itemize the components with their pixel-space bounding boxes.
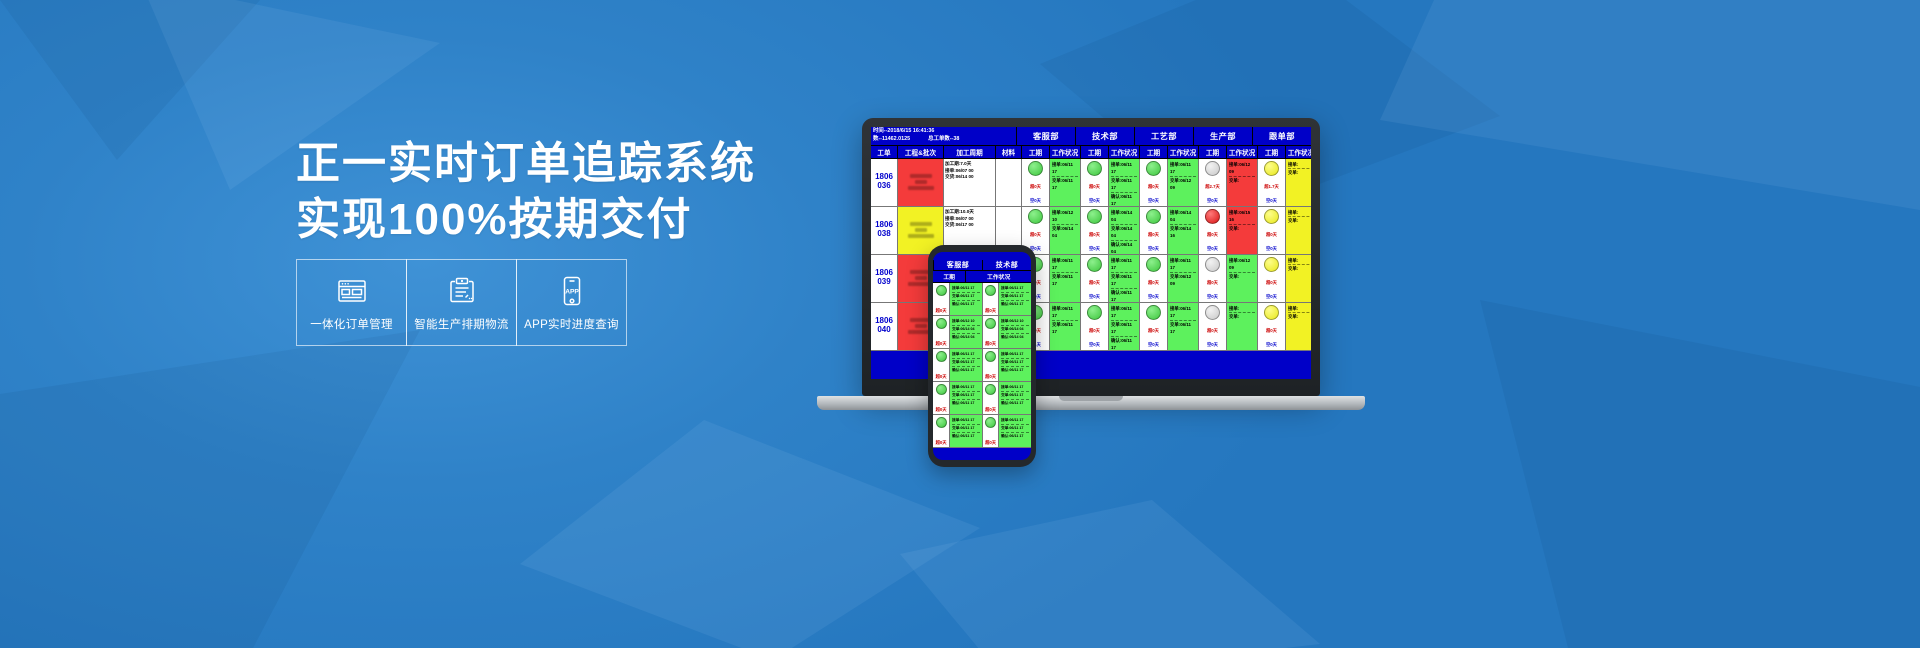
overdue-tag: 超0天 [936, 341, 947, 346]
mobile-dept-work-status-cell[interactable]: 接单:06/11 17交单:06/11 17确认:06/11 17 [949, 283, 982, 315]
work-status-line: 交单: [1288, 313, 1311, 320]
dept-duration-cell[interactable]: 超0天空0天 [1198, 255, 1226, 302]
status-indicator-green [985, 318, 996, 329]
mobile-dept-duration-cell[interactable]: 超0天 [982, 349, 998, 381]
overdue-tag: 超0天 [1266, 328, 1277, 333]
status-indicator-green [936, 417, 947, 428]
dept-duration-cell[interactable]: 超0天空0天 [1198, 303, 1226, 350]
work-status-line: 接单: [1288, 305, 1311, 313]
dept-duration-cell[interactable]: 超0天空0天 [1021, 159, 1049, 206]
cycle-due: 交货:06/14 00 [945, 174, 994, 181]
work-status-line: 接单:06/12 10 [1001, 318, 1029, 326]
work-status-line: 接单: [1288, 161, 1311, 169]
column-header-status: 工作状况 [1167, 146, 1198, 158]
work-status-line: 交单:06/11 17 [1111, 321, 1137, 337]
mobile-dept-work-status-cell[interactable]: 接单:06/11 17交单:06/11 17确认:06/11 17 [998, 415, 1031, 447]
bg-polygon [0, 330, 420, 648]
redacted-text [908, 186, 934, 190]
work-status-line: 接单:06/12 10 [952, 318, 980, 326]
mobile-column-headers: 工期工作状况工期工作状况 [933, 270, 1031, 283]
work-status-line: 接单:06/11 17 [1170, 257, 1196, 273]
work-status-line: 交单:06/11 17 [952, 392, 980, 400]
dept-work-status-cell[interactable]: 接单:交单: [1285, 159, 1311, 206]
status-indicator-green [936, 318, 947, 329]
work-status-line: 接单:06/14 04 [1170, 209, 1196, 225]
work-status-line: 接单:06/12 09 [1229, 161, 1255, 177]
redacted-text [915, 276, 927, 280]
work-status-line: 接单:06/11 17 [952, 351, 980, 359]
work-status-line: 交单:06/14 16 [1170, 225, 1196, 240]
redacted-text [915, 228, 927, 232]
status-indicator-green [1028, 209, 1043, 224]
work-status-line: 交单: [1288, 169, 1311, 176]
work-status-line: 交单:06/11 17 [1052, 177, 1078, 192]
cycle-duration: 加工期:7.0天 [945, 161, 994, 168]
mobile-dept-duration-cell[interactable]: 超0天 [933, 283, 949, 315]
headline-block: 正一实时订单追踪系统 实现100%按期交付 [296, 136, 936, 249]
status-indicator-green [1087, 161, 1102, 176]
work-status-line: 交单: [1229, 313, 1255, 320]
dept-work-status-cell[interactable]: 接单:06/11 17交单:06/11 17 [1167, 303, 1198, 350]
mobile-dept-duration-cell[interactable]: 超0天 [933, 349, 949, 381]
work-status-line: 接单:06/11 17 [1001, 285, 1029, 293]
mobile-app-icon: APP [555, 274, 589, 308]
dept-duration-cell[interactable]: 超1.7天空0天 [1257, 159, 1285, 206]
idle-tag: 空0天 [1266, 342, 1277, 347]
status-indicator-green [1028, 161, 1043, 176]
column-header-duration: 工期 [1021, 146, 1049, 158]
work-status-line: 交单:06/11 17 [952, 293, 980, 301]
mobile-table-row[interactable]: 超0天接单:06/11 17交单:06/11 17确认:06/11 17超0天接… [933, 283, 1031, 316]
dept-duration-cell[interactable]: 超0天空0天 [1139, 303, 1167, 350]
status-indicator-yellow [1264, 209, 1279, 224]
dept-duration-cell[interactable]: 超0天空0天 [1198, 207, 1226, 254]
dashboard-header: 时间--2018/6/15 16:41:36数--11462.0125总工单数-… [871, 127, 1311, 145]
work-status-line: 接单:06/15 16 [1229, 209, 1255, 225]
phone-device: 客服部技术部工期工作状况工期工作状况超0天接单:06/11 17交单:06/11… [928, 245, 1036, 467]
work-status-line: 交单:06/11 17 [1001, 293, 1029, 301]
status-indicator-green [936, 351, 947, 362]
work-status-line: 确认:06/11 17 [1111, 193, 1137, 206]
table-row[interactable]: 1806036加工期:7.0天接单:06/07 00交货:06/14 00超0天… [871, 159, 1311, 207]
work-status-line: 接单: [1288, 209, 1311, 217]
status-indicator-grey [1205, 305, 1220, 320]
feature-box-smart-scheduling[interactable]: 智能生产排期物流 [406, 259, 517, 346]
work-status-line: 确认:06/11 17 [952, 400, 980, 407]
dashboard-total-orders: 总工单数--38 [928, 136, 959, 144]
mobile-table-row[interactable]: 超0天接单:06/11 17交单:06/11 17确认:06/11 17超0天接… [933, 415, 1031, 448]
work-status-line: 接单:06/14 04 [1111, 209, 1137, 225]
phone-notch [965, 245, 999, 252]
headline-line-1: 正一实时订单追踪系统 [296, 136, 936, 192]
work-status-line: 交单:06/11 17 [952, 359, 980, 367]
overdue-tag: 超0天 [1266, 280, 1277, 285]
dashboard-time: 时间--2018/6/15 16:41:36 [873, 128, 1014, 136]
column-header: 工单 [871, 146, 897, 158]
status-indicator-yellow [1264, 257, 1279, 272]
mobile-dept-duration-cell[interactable]: 超0天 [933, 316, 949, 348]
feature-box-list: 一体化订单管理 智能生产排期物流 [296, 259, 627, 346]
status-indicator-green [1146, 161, 1161, 176]
work-status-line: 交单:06/11 17 [1170, 321, 1196, 336]
overdue-tag: 超0天 [1148, 328, 1159, 333]
status-indicator-green [936, 285, 947, 296]
mobile-table-row[interactable]: 超0天接单:06/12 10交单:06/14 04确认:06/14 04超0天接… [933, 316, 1031, 349]
idle-tag: 空0天 [1266, 198, 1277, 203]
work-status-line: 接单:06/11 17 [1170, 305, 1196, 321]
status-indicator-yellow [1264, 305, 1279, 320]
work-status-line: 交单:06/14 04 [952, 326, 980, 334]
order-number-cell: 1806038 [871, 207, 897, 254]
work-status-line: 交单:06/12 09 [1170, 273, 1196, 288]
work-status-line: 交单: [1229, 177, 1255, 184]
status-indicator-yellow [1264, 161, 1279, 176]
dept-work-status-cell[interactable]: 接单:06/11 17交单:06/11 17 [1049, 255, 1080, 302]
work-status-line: 确认:06/14 04 [1001, 334, 1029, 341]
overdue-tag: 超2.7天 [1205, 184, 1220, 189]
dept-duration-cell[interactable]: 超0天空0天 [1080, 303, 1108, 350]
dept-header-2: 技术部 [1075, 127, 1134, 145]
column-header: 材料 [995, 146, 1021, 158]
order-number-cell: 1806036 [871, 159, 897, 206]
work-status-line: 接单:06/11 17 [1170, 161, 1196, 177]
work-status-line: 接单:06/12 09 [1229, 257, 1255, 273]
status-indicator-green [1146, 305, 1161, 320]
dept-work-status-cell[interactable]: 接单:交单: [1285, 255, 1311, 302]
column-header: 加工周期 [943, 146, 995, 158]
dashboard-number: 数--11462.0125 [873, 136, 910, 144]
feature-label: APP实时进度查询 [524, 316, 619, 332]
status-indicator-red [1205, 209, 1220, 224]
work-status-line: 接单:06/11 17 [952, 417, 980, 425]
column-header-duration: 工期 [1080, 146, 1108, 158]
work-status-line: 接单: [1229, 305, 1255, 313]
redacted-text [915, 324, 927, 328]
idle-tag: 空0天 [1266, 294, 1277, 299]
dept-work-status-cell[interactable]: 接单:06/11 17交单:06/11 17确认:06/11 17 [1108, 159, 1139, 206]
dept-work-status-cell[interactable]: 接单:06/12 10交单:06/14 04 [1049, 207, 1080, 254]
idle-tag: 空0天 [1148, 198, 1159, 203]
idle-tag: 空0天 [1148, 342, 1159, 347]
mobile-dashboard-header: 客服部技术部 [933, 252, 1031, 270]
redacted-text [910, 174, 932, 178]
work-status-line: 接单:06/11 17 [1052, 305, 1078, 321]
status-indicator-green [1146, 209, 1161, 224]
dashboard-meta: 时间--2018/6/15 16:41:36数--11462.0125总工单数-… [871, 127, 1016, 145]
mobile-dept-work-status-cell[interactable]: 接单:06/11 17交单:06/11 17确认:06/11 17 [949, 349, 982, 381]
mobile-table-row[interactable]: 超0天接单:06/11 17交单:06/11 17确认:06/11 17超0天接… [933, 382, 1031, 415]
work-status-line: 接单:06/12 10 [1052, 209, 1078, 225]
work-status-line: 交单:06/11 17 [1001, 392, 1029, 400]
work-status-line: 交单: [1229, 273, 1255, 280]
overdue-tag: 超0天 [936, 407, 947, 412]
dept-duration-cell[interactable]: 超0天空0天 [1080, 207, 1108, 254]
feature-box-app-query[interactable]: APP APP实时进度查询 [516, 259, 627, 346]
overdue-tag: 超0天 [936, 374, 947, 379]
work-status-line: 接单:06/11 17 [1111, 305, 1137, 321]
column-header-status: 工作状况 [1108, 146, 1139, 158]
status-indicator-green [985, 285, 996, 296]
work-status-line: 接单:06/11 17 [1111, 257, 1137, 273]
idle-tag: 空0天 [1089, 294, 1100, 299]
overdue-tag: 超0天 [1030, 232, 1041, 237]
mobile-dept-duration-cell[interactable]: 超0天 [933, 382, 949, 414]
dept-duration-cell[interactable]: 超2.7天空0天 [1198, 159, 1226, 206]
idle-tag: 空0天 [1207, 198, 1218, 203]
work-status-line: 交单: [1229, 225, 1255, 232]
overdue-tag: 超0天 [985, 407, 996, 412]
dept-duration-cell[interactable]: 超0天空0天 [1139, 255, 1167, 302]
status-indicator-grey [1205, 161, 1220, 176]
mobile-dept-work-status-cell[interactable]: 接单:06/11 17交单:06/11 17确认:06/11 17 [998, 283, 1031, 315]
column-header-duration: 工期 [1198, 146, 1226, 158]
work-status-line: 交单:06/14 04 [1111, 225, 1137, 241]
mobile-dept-duration-cell[interactable]: 超0天 [982, 316, 998, 348]
work-status-line: 交单: [1288, 217, 1311, 224]
work-status-line: 确认:06/14 04 [952, 334, 980, 341]
mobile-table-row[interactable]: 超0天接单:06/11 17交单:06/11 17确认:06/11 17超0天接… [933, 349, 1031, 382]
mobile-dept-work-status-cell[interactable]: 接单:06/11 17交单:06/11 17确认:06/11 17 [949, 415, 982, 447]
dept-work-status-cell[interactable]: 接单:06/11 17交单:06/12 09 [1167, 255, 1198, 302]
dept-work-status-cell[interactable]: 接单:06/14 04交单:06/14 16 [1167, 207, 1198, 254]
redacted-text [908, 234, 934, 238]
work-status-line: 接单:06/11 17 [1111, 161, 1137, 177]
work-status-line: 接单:06/11 17 [1001, 417, 1029, 425]
dept-duration-cell[interactable]: 超0天空0天 [1080, 255, 1108, 302]
work-status-line: 确认:06/14 04 [1111, 241, 1137, 254]
mobile-dept-work-status-cell[interactable]: 接单:06/11 17交单:06/11 17确认:06/11 17 [998, 349, 1031, 381]
feature-label: 一体化订单管理 [310, 316, 393, 332]
status-indicator-green [1087, 305, 1102, 320]
overdue-tag: 超0天 [985, 374, 996, 379]
work-status-line: 接单:06/11 17 [1052, 257, 1078, 273]
work-status-line: 交单: [1288, 265, 1311, 272]
svg-text:APP: APP [565, 288, 579, 295]
overdue-tag: 超0天 [1089, 280, 1100, 285]
status-indicator-green [985, 417, 996, 428]
idle-tag: 空0天 [1207, 246, 1218, 251]
work-status-line: 交单:06/12 09 [1170, 177, 1196, 192]
mobile-dept-work-status-cell[interactable]: 接单:06/12 10交单:06/14 04确认:06/14 04 [998, 316, 1031, 348]
overdue-tag: 超0天 [1207, 232, 1218, 237]
mobile-dept-duration-cell[interactable]: 超0天 [982, 382, 998, 414]
overdue-tag: 超0天 [985, 341, 996, 346]
overdue-tag: 超0天 [1207, 328, 1218, 333]
overdue-tag: 超0天 [1148, 232, 1159, 237]
work-status-line: 确认:06/11 17 [1001, 400, 1029, 407]
work-status-line: 交单:06/14 04 [1052, 225, 1078, 240]
bg-polygon [1480, 300, 1920, 648]
dept-work-status-cell[interactable]: 接单:交单: [1285, 303, 1311, 350]
dept-duration-cell[interactable]: 超0天空0天 [1139, 159, 1167, 206]
overdue-tag: 超0天 [1148, 184, 1159, 189]
cycle-duration: 加工期:10.0天 [945, 209, 994, 216]
bg-polygon [520, 420, 980, 648]
work-status-line: 交单:06/11 17 [1111, 273, 1137, 289]
promo-banner: 正一实时订单追踪系统 实现100%按期交付 一体化订单管理 [0, 0, 1920, 648]
overdue-tag: 超0天 [1207, 280, 1218, 285]
feature-box-order-management[interactable]: 一体化订单管理 [296, 259, 407, 346]
overdue-tag: 超0天 [1089, 328, 1100, 333]
idle-tag: 空0天 [1148, 246, 1159, 251]
headline-line-2: 实现100%按期交付 [296, 192, 936, 248]
overdue-tag: 超0天 [1089, 184, 1100, 189]
idle-tag: 空0天 [1089, 342, 1100, 347]
work-status-line: 确认:06/11 17 [1001, 433, 1029, 440]
mobile-dept-duration-cell[interactable]: 超0天 [933, 415, 949, 447]
idle-tag: 空0天 [1089, 246, 1100, 251]
overdue-tag: 超0天 [1089, 232, 1100, 237]
work-status-line: 确认:06/11 17 [1001, 367, 1029, 374]
column-header-status: 工作状况 [1226, 146, 1257, 158]
mobile-dept-header-2: 技术部 [982, 260, 1031, 270]
mobile-dept-duration-cell[interactable]: 超0天 [982, 283, 998, 315]
dept-duration-cell[interactable]: 超0天空0天 [1257, 255, 1285, 302]
column-header-status: 工作状况 [1049, 146, 1080, 158]
work-status-line: 交单:06/11 17 [1001, 425, 1029, 433]
overdue-tag: 超0天 [1266, 232, 1277, 237]
status-indicator-green [985, 384, 996, 395]
work-status-line: 确认:06/11 17 [952, 433, 980, 440]
idle-tag: 空0天 [1030, 198, 1041, 203]
status-indicator-grey [1205, 257, 1220, 272]
mobile-dept-work-status-cell[interactable]: 接单:06/11 17交单:06/11 17确认:06/11 17 [998, 382, 1031, 414]
mobile-dept-work-status-cell[interactable]: 接单:06/11 17交单:06/11 17确认:06/11 17 [949, 382, 982, 414]
overdue-tag: 超0天 [1148, 280, 1159, 285]
redacted-text [915, 180, 927, 184]
bg-polygon [1380, 0, 1920, 300]
overdue-tag: 超1.7天 [1264, 184, 1279, 189]
column-header-status: 工作状况 [1285, 146, 1311, 158]
dept-header-5: 跟单部 [1252, 127, 1311, 145]
dept-work-status-cell[interactable]: 接单:06/11 17交单:06/11 17 [1049, 159, 1080, 206]
dashboard-column-headers: 工单工程&批次加工周期材料工期工作状况工期工作状况工期工作状况工期工作状况工期工… [871, 145, 1311, 159]
dept-duration-cell[interactable]: 超0天空0天 [1257, 303, 1285, 350]
overdue-tag: 超0天 [936, 308, 947, 313]
dept-work-status-cell[interactable]: 接单:06/12 09交单: [1226, 255, 1257, 302]
dept-work-status-cell[interactable]: 接单:交单: [1285, 207, 1311, 254]
dept-work-status-cell[interactable]: 接单:06/11 17交单:06/12 09 [1167, 159, 1198, 206]
dept-header-4: 生产部 [1193, 127, 1252, 145]
status-indicator-green [936, 384, 947, 395]
dept-work-status-cell[interactable]: 接单:06/11 17交单:06/11 17确认:06/11 17 [1108, 255, 1139, 302]
order-number-cell: 1806039 [871, 255, 897, 302]
status-indicator-green [1146, 257, 1161, 272]
work-status-line: 交单:06/11 17 [1111, 177, 1137, 193]
processing-cycle-cell: 加工期:7.0天接单:06/07 00交货:06/14 00 [943, 159, 995, 206]
work-status-line: 接单:06/11 17 [952, 384, 980, 392]
work-status-line: 接单:06/11 17 [1001, 384, 1029, 392]
work-status-line: 交单:06/11 17 [952, 425, 980, 433]
work-status-line: 确认:06/11 17 [1111, 337, 1137, 350]
dept-work-status-cell[interactable]: 接单:06/14 04交单:06/14 04确认:06/14 04 [1108, 207, 1139, 254]
overdue-tag: 超0天 [985, 440, 996, 445]
dept-duration-cell[interactable]: 超0天空0天 [1257, 207, 1285, 254]
phone-screen: 客服部技术部工期工作状况工期工作状况超0天接单:06/11 17交单:06/11… [933, 252, 1031, 460]
column-header-duration: 工期 [1257, 146, 1285, 158]
work-status-line: 交单:06/11 17 [1001, 359, 1029, 367]
idle-tag: 空0天 [1266, 246, 1277, 251]
mobile-dept-duration-cell[interactable]: 超0天 [982, 415, 998, 447]
work-status-line: 接单:06/11 17 [952, 285, 980, 293]
work-status-line: 接单:06/11 17 [1052, 161, 1078, 177]
mobile-dashboard-rows: 超0天接单:06/11 17交单:06/11 17确认:06/11 17超0天接… [933, 283, 1031, 448]
dept-header-3: 工艺部 [1134, 127, 1193, 145]
material-cell [995, 159, 1021, 206]
idle-tag: 空0天 [1148, 294, 1159, 299]
overdue-tag: 超0天 [985, 308, 996, 313]
dept-work-status-cell[interactable]: 接单:06/15 16交单: [1226, 207, 1257, 254]
status-indicator-green [1087, 209, 1102, 224]
order-number-cell: 1806040 [871, 303, 897, 350]
dept-work-status-cell[interactable]: 接单:交单: [1226, 303, 1257, 350]
mobile-column-header-status: 工作状况 [965, 271, 1031, 282]
clipboard-icon [445, 274, 479, 308]
feature-label: 智能生产排期物流 [414, 316, 508, 332]
window-layout-icon [335, 274, 369, 308]
mobile-column-header-duration: 工期 [933, 271, 965, 282]
status-indicator-green [985, 351, 996, 362]
work-status-line: 确认:06/11 17 [1001, 301, 1029, 308]
work-status-line: 确认:06/11 17 [952, 367, 980, 374]
work-status-line: 交单:06/11 17 [1052, 321, 1078, 336]
mobile-dept-header-1: 客服部 [933, 260, 982, 270]
idle-tag: 空0天 [1207, 294, 1218, 299]
dept-work-status-cell[interactable]: 接单:06/12 09交单: [1226, 159, 1257, 206]
cycle-due: 交货:06/17 00 [945, 222, 994, 229]
laptop-trackpad-notch [1059, 396, 1123, 401]
work-status-line: 确认:06/11 17 [1111, 289, 1137, 302]
mobile-dept-work-status-cell[interactable]: 接单:06/12 10交单:06/14 04确认:06/14 04 [949, 316, 982, 348]
status-indicator-green [1087, 257, 1102, 272]
dept-header-1: 客服部 [1016, 127, 1075, 145]
overdue-tag: 超0天 [936, 440, 947, 445]
project-batch-cell [897, 159, 943, 206]
dept-work-status-cell[interactable]: 接单:06/11 17交单:06/11 17 [1049, 303, 1080, 350]
dept-work-status-cell[interactable]: 接单:06/11 17交单:06/11 17确认:06/11 17 [1108, 303, 1139, 350]
work-status-line: 接单:06/11 17 [1001, 351, 1029, 359]
work-status-line: 接单: [1288, 257, 1311, 265]
dept-duration-cell[interactable]: 超0天空0天 [1139, 207, 1167, 254]
work-status-line: 交单:06/14 04 [1001, 326, 1029, 334]
overdue-tag: 超0天 [1030, 184, 1041, 189]
work-status-line: 交单:06/11 17 [1052, 273, 1078, 288]
mobile-order-tracking-dashboard: 客服部技术部工期工作状况工期工作状况超0天接单:06/11 17交单:06/11… [933, 252, 1031, 460]
redacted-text [910, 222, 932, 226]
idle-tag: 空0天 [1089, 198, 1100, 203]
column-header-duration: 工期 [1139, 146, 1167, 158]
work-status-line: 确认:06/11 17 [952, 301, 980, 308]
idle-tag: 空0天 [1207, 342, 1218, 347]
dept-duration-cell[interactable]: 超0天空0天 [1080, 159, 1108, 206]
column-header: 工程&批次 [897, 146, 943, 158]
